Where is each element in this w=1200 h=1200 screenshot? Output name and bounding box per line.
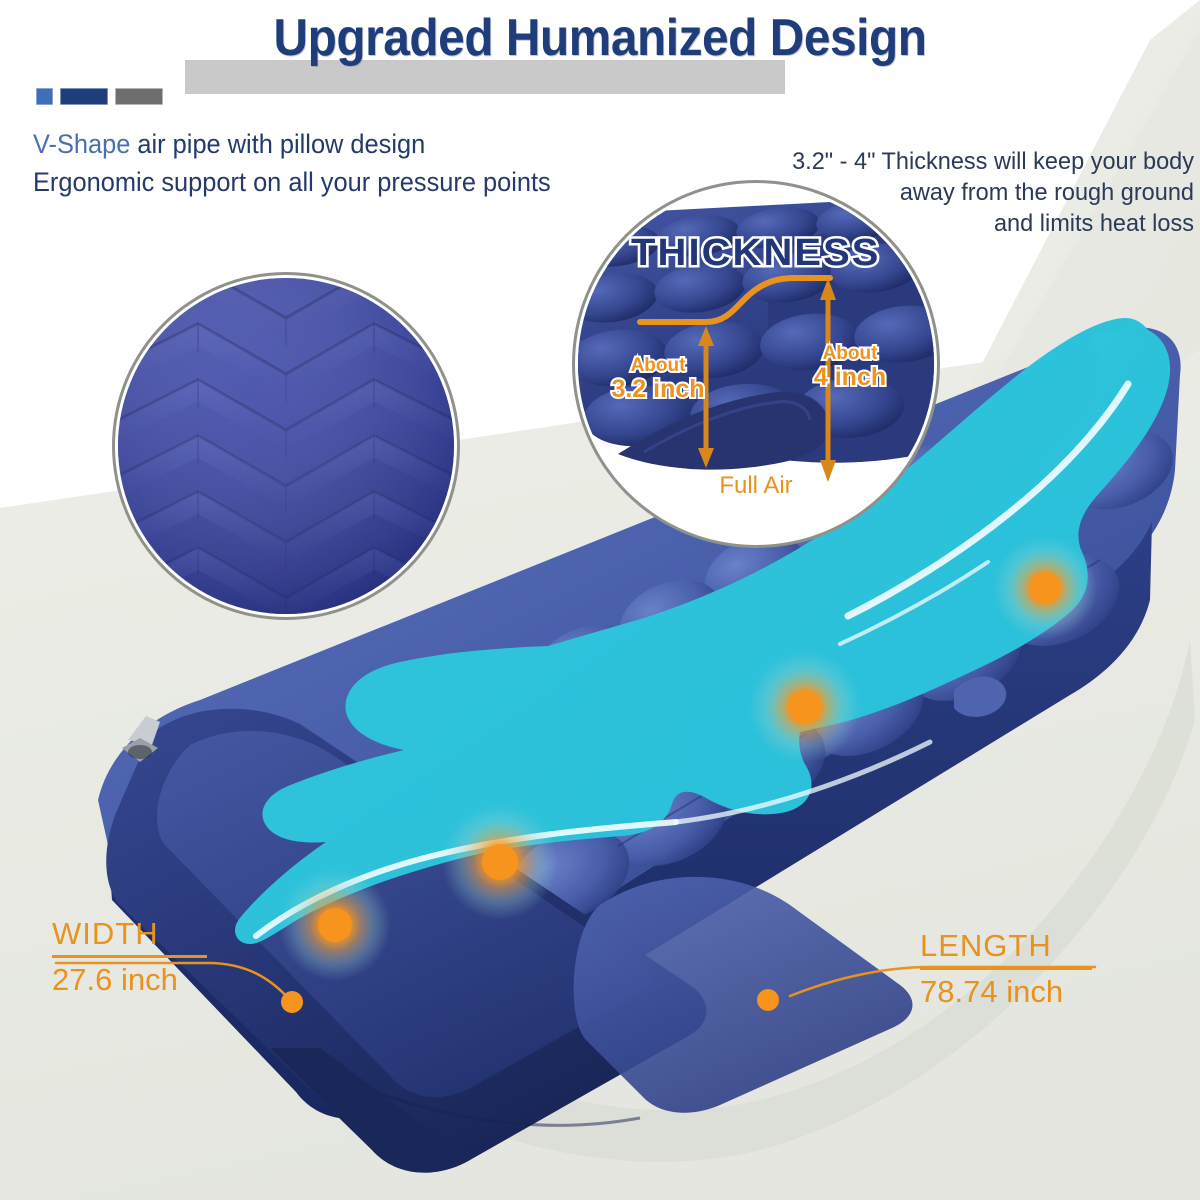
v-shape-texture (118, 278, 454, 614)
measure-left-about: About (592, 356, 724, 376)
pressure-point-icon (993, 536, 1097, 640)
length-callout: LENGTH 78.74 inch (920, 928, 1095, 1010)
pressure-point-icon (442, 804, 558, 920)
length-leader-dot (757, 989, 779, 1011)
thickness-circle: THICKNESS About 3.2 inch About 4 inch Fu… (578, 186, 934, 542)
width-callout: WIDTH 27.6 inch (52, 916, 212, 998)
pressure-point-icon (749, 651, 861, 763)
measure-left-value: 3.2 inch (592, 376, 724, 402)
full-air-label: Full Air (578, 472, 934, 500)
length-value: 78.74 inch (920, 974, 1095, 1010)
thickness-title: THICKNESS (578, 232, 934, 275)
measure-right: About 4 inch (790, 344, 910, 390)
thickness-title-text: THICKNESS (631, 232, 880, 275)
measure-right-about: About (790, 344, 910, 364)
length-caption: LENGTH (920, 928, 1095, 964)
measure-left: About 3.2 inch (592, 356, 724, 402)
measure-right-value: 4 inch (790, 364, 910, 390)
page-title: Upgraded Humanized Design (48, 8, 1152, 68)
width-rule (52, 955, 207, 958)
pressure-point-icon (279, 869, 391, 981)
page-title-block: Upgraded Humanized Design (0, 8, 1200, 68)
width-value: 27.6 inch (52, 962, 212, 998)
infographic-canvas: Upgraded Humanized Design V-Shape air pi… (0, 0, 1200, 1200)
length-rule (920, 967, 1092, 970)
width-caption: WIDTH (52, 916, 212, 952)
v-shape-texture-circle (118, 278, 454, 614)
width-leader-dot (281, 991, 303, 1013)
